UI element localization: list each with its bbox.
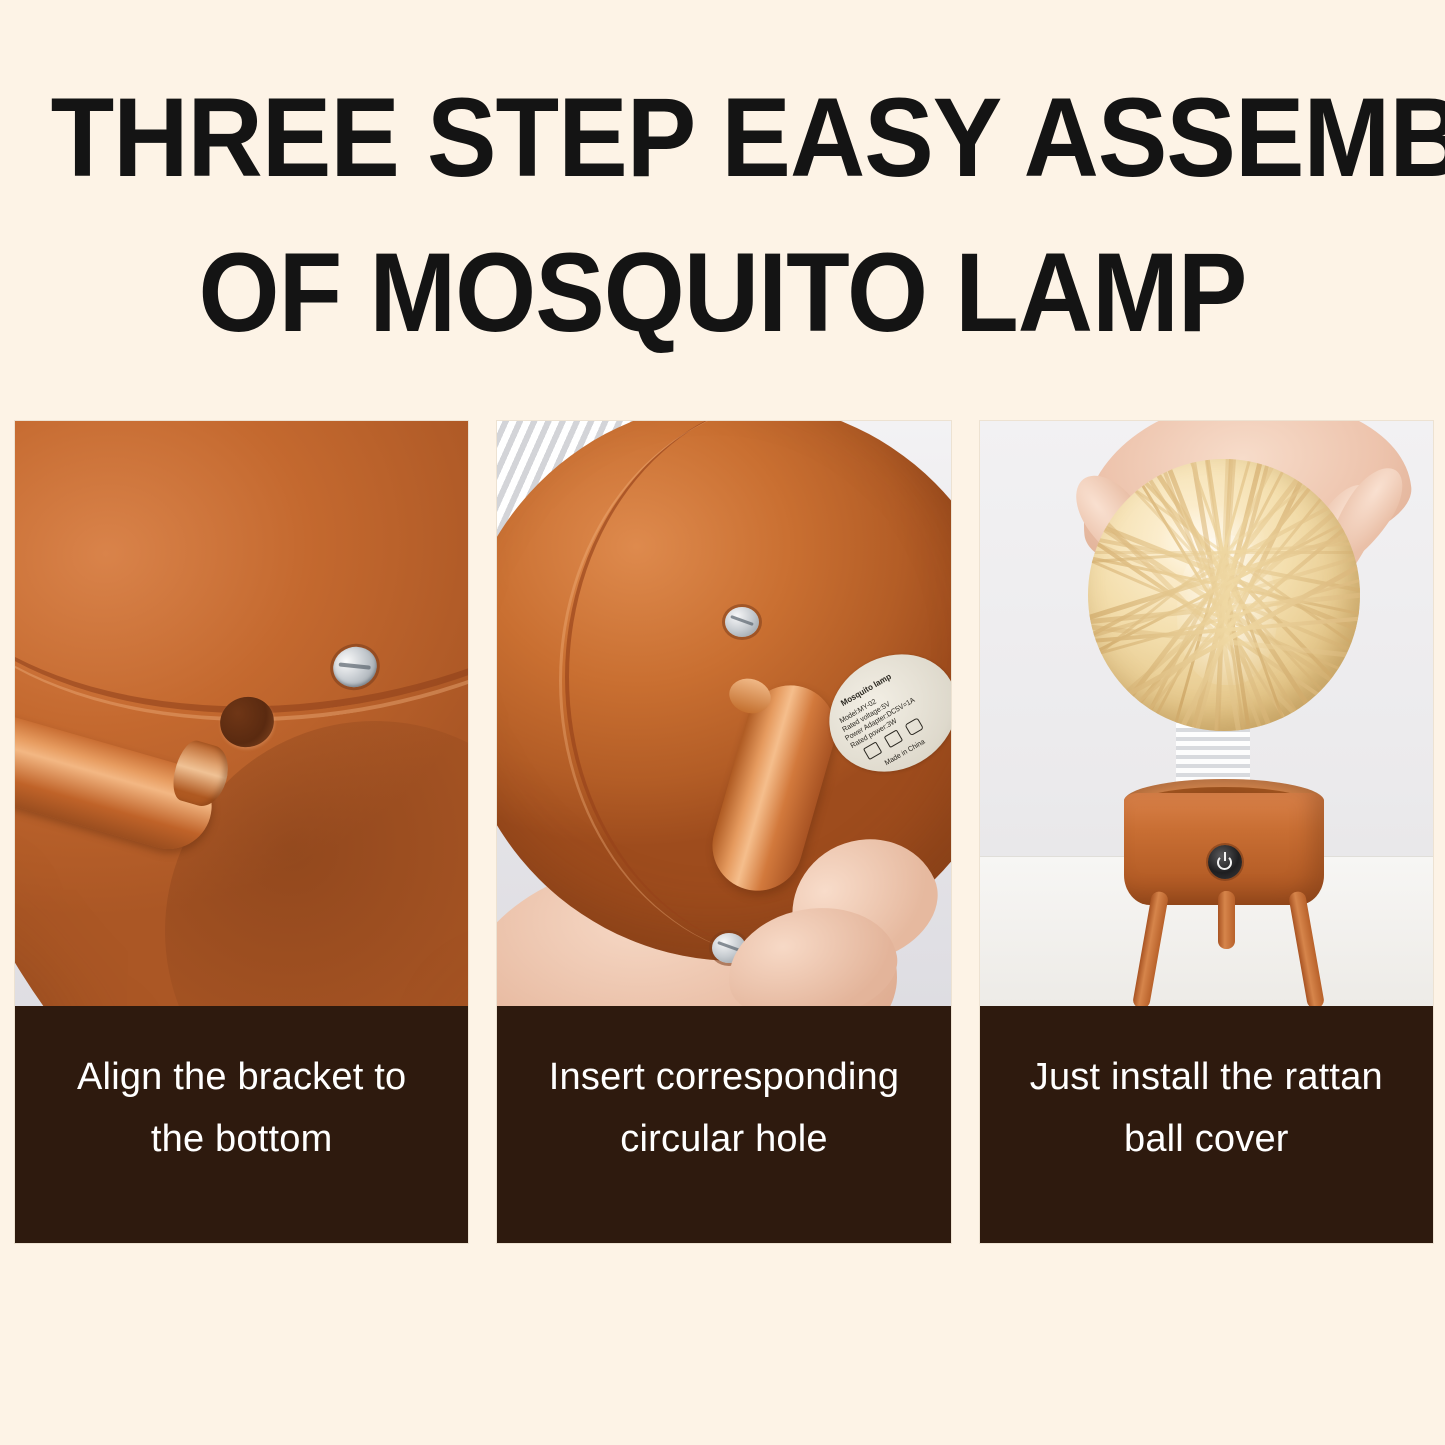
power-button[interactable] [1208, 845, 1242, 879]
step-photo-3 [980, 421, 1433, 1006]
page-title: THREE STEP EASY ASSEMBLY OF MOSQUITO LAM… [51, 60, 1395, 370]
steps-grid: Align the bracket to the bottom Mosquito… [14, 420, 1434, 1244]
step-caption-3-line-1: Just install the rattan [1030, 1046, 1383, 1108]
step-photo-2: Mosquito lamp Model:MY-02 Rated voltage:… [497, 421, 950, 1006]
step-caption-1: Align the bracket to the bottom [15, 1006, 468, 1243]
do-not-dispose-symbol-icon [884, 729, 903, 748]
step-caption-3: Just install the rattan ball cover [980, 1006, 1433, 1243]
step-card-2: Mosquito lamp Model:MY-02 Rated voltage:… [496, 420, 951, 1244]
step-card-1: Align the bracket to the bottom [14, 420, 469, 1244]
ce-symbol-icon [905, 717, 924, 736]
step-caption-1-line-2: the bottom [151, 1108, 333, 1170]
step-photo-1 [15, 421, 468, 1006]
page-title-line-1: THREE STEP EASY ASSEMBLY [51, 60, 1395, 215]
step-caption-2-line-2: circular hole [620, 1108, 827, 1170]
step-caption-2: Insert corresponding circular hole [497, 1006, 950, 1243]
power-icon [1217, 855, 1232, 870]
rattan-ball-cover [1088, 459, 1360, 731]
step-caption-3-line-2: ball cover [1124, 1108, 1289, 1170]
step-caption-2-line-1: Insert corresponding [549, 1046, 899, 1108]
page-title-line-2: OF MOSQUITO LAMP [51, 215, 1395, 370]
recycle-symbol-icon [863, 741, 882, 760]
lamp-leg [1218, 891, 1235, 949]
step-card-3: Just install the rattan ball cover [979, 420, 1434, 1244]
step-caption-1-line-1: Align the bracket to [77, 1046, 406, 1108]
